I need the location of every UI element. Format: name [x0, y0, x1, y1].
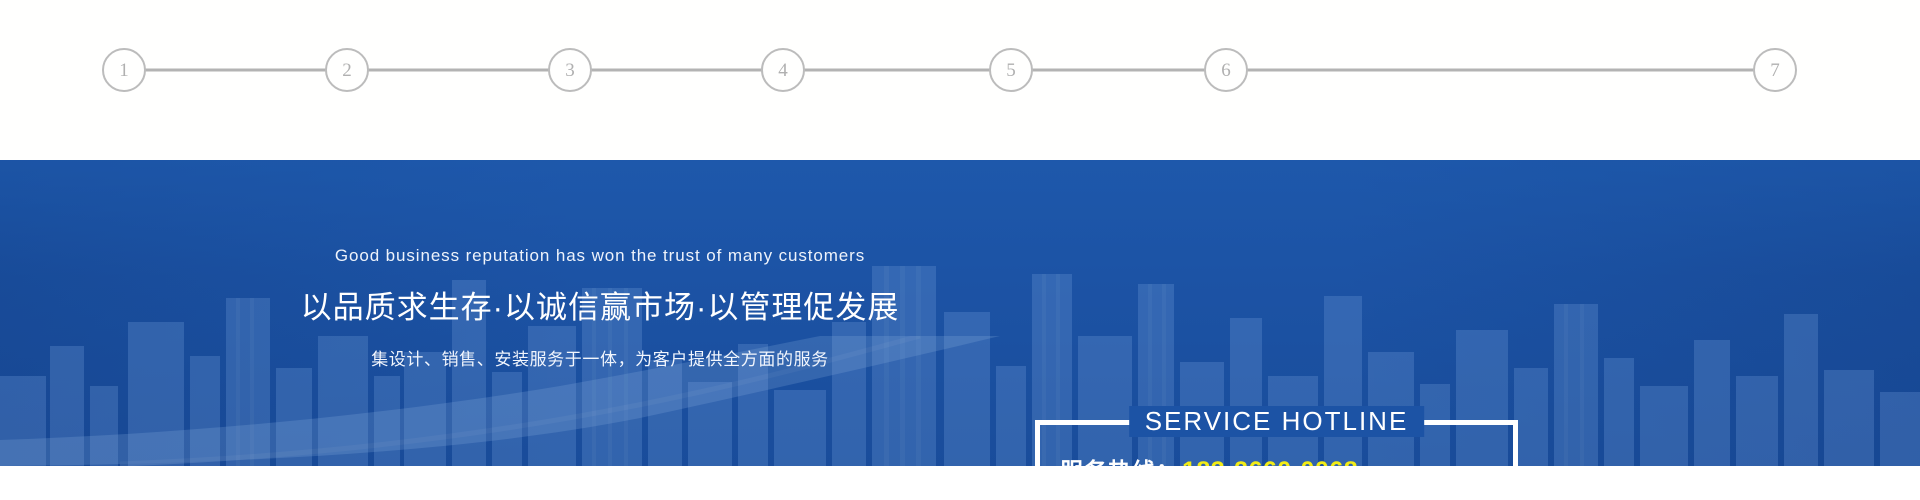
step-node-3[interactable]: 3 [548, 48, 592, 92]
promo-banner: Good business reputation has won the tru… [0, 160, 1920, 466]
step-indicator: 1 2 3 4 5 6 7 [0, 0, 1920, 160]
step-connector-line [124, 69, 1775, 72]
step-label: 1 [119, 61, 129, 80]
slogan-subline: 集设计、销售、安装服务于一体，为客户提供全方面的服务 [300, 345, 900, 370]
page-root: 1 2 3 4 5 6 7 [0, 0, 1920, 500]
step-label: 5 [1006, 61, 1016, 80]
hotline-number-list: 服务热线： 183-2660-0068 服务热线： 0551-63749777 [1040, 452, 1513, 466]
step-node-7[interactable]: 7 [1753, 48, 1797, 92]
footer-white-strip [0, 466, 1920, 500]
service-hotline-box: SERVICE HOTLINE 服务热线： 183-2660-0068 服务热线… [1035, 420, 1518, 466]
step-node-2[interactable]: 2 [325, 48, 369, 92]
step-node-5[interactable]: 5 [989, 48, 1033, 92]
step-node-6[interactable]: 6 [1204, 48, 1248, 92]
slogan-chinese-headline: 以品质求生存·以诚信赢市场·以管理促发展 [300, 282, 900, 327]
hotline-number-primary[interactable]: 183-2660-0068 [1182, 457, 1358, 466]
step-label: 7 [1770, 61, 1780, 80]
hotline-label: 服务热线： [1060, 452, 1182, 466]
step-label: 3 [565, 61, 575, 80]
service-hotline-title: SERVICE HOTLINE [1129, 406, 1425, 437]
step-label: 4 [778, 61, 788, 80]
step-label: 6 [1221, 61, 1231, 80]
step-label: 2 [342, 61, 352, 80]
hotline-row-primary: 服务热线： 183-2660-0068 [1060, 452, 1513, 466]
slogan-english: Good business reputation has won the tru… [300, 246, 900, 266]
step-node-4[interactable]: 4 [761, 48, 805, 92]
step-node-1[interactable]: 1 [102, 48, 146, 92]
road-watermark [0, 336, 1920, 466]
slogan-block: Good business reputation has won the tru… [300, 246, 900, 370]
